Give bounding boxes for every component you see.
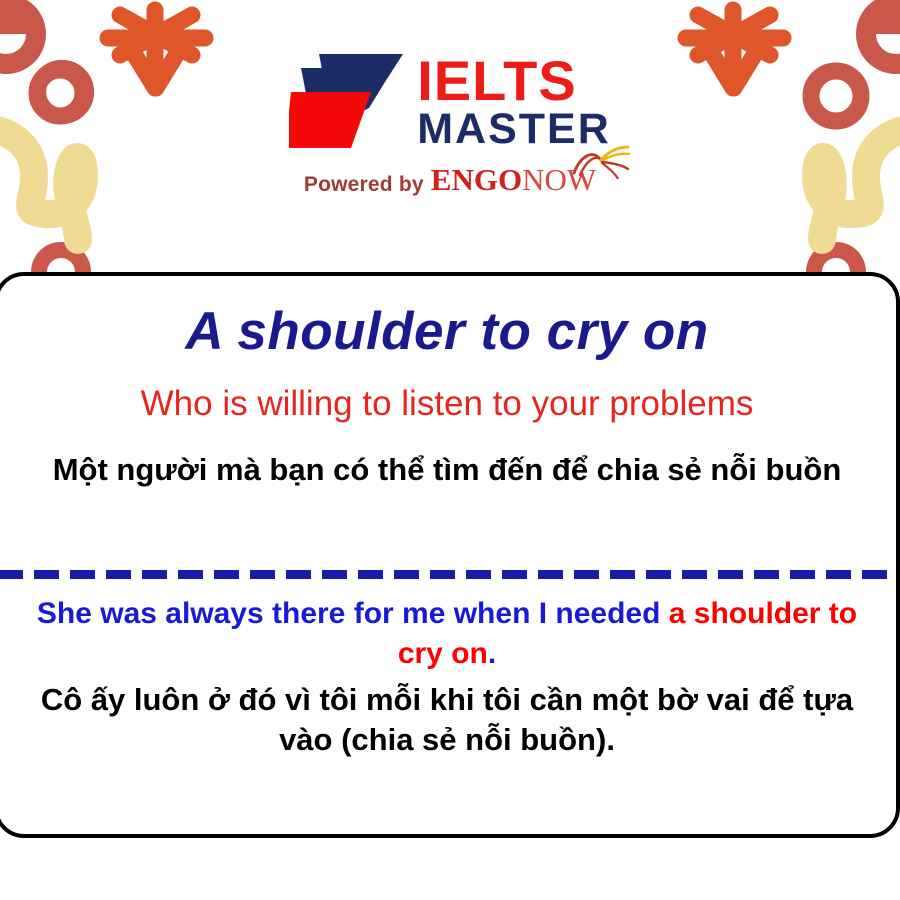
card-definition-section: A shoulder to cry on Who is willing to l… [0, 276, 896, 490]
poster-canvas: IELTS MASTER Powered by ENGO NOW A shoul… [0, 0, 900, 900]
headword-title: A shoulder to cry on [32, 304, 862, 360]
english-example-plain: She was always there for me when I neede… [37, 597, 669, 630]
logo-wordmark: IELTS MASTER [417, 54, 611, 151]
english-example-end: . [488, 637, 496, 670]
partner-name-bold: ENGO [431, 162, 522, 198]
ribbon-flourish-icon [570, 145, 630, 179]
ielts-master-logo-mark [289, 52, 407, 152]
card-example-section: She was always there for me when I neede… [0, 594, 896, 760]
brand-logo: IELTS MASTER Powered by ENGO NOW [0, 52, 900, 217]
powered-by-label: Powered by [304, 173, 424, 198]
powered-by-row: Powered by ENGO NOW [304, 162, 596, 198]
vocabulary-card: A shoulder to cry on Who is willing to l… [0, 272, 900, 838]
vietnamese-definition: Một người mà bạn có thể tìm đến để chia … [32, 450, 862, 490]
logo-text-ielts: IELTS [417, 54, 611, 109]
logo-row: IELTS MASTER [289, 52, 611, 152]
english-example: She was always there for me when I neede… [34, 594, 860, 674]
dashed-divider [0, 570, 896, 579]
english-definition: Who is willing to listen to your problem… [32, 384, 862, 424]
vietnamese-example: Cô ấy luôn ở đó vì tôi mỗi khi tôi cần m… [34, 680, 860, 761]
